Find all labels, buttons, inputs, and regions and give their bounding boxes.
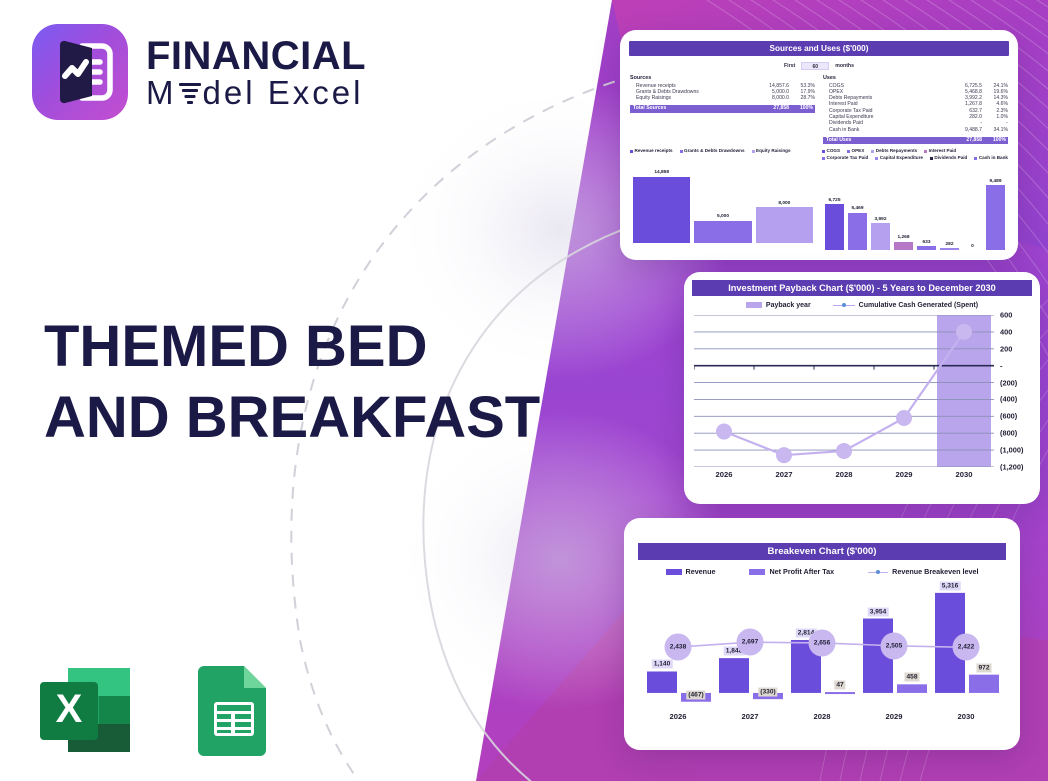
legend-item: OPEX: [847, 148, 864, 153]
npat-bar: [897, 684, 927, 693]
row-percent: 28.7%: [789, 95, 815, 101]
bar-column: 9,489: [986, 164, 1005, 250]
legend-cumulative-cash-label: Cumulative Cash Generated (Spent): [859, 302, 978, 309]
bar: [694, 221, 751, 244]
total-sources-value: 27,858: [755, 105, 789, 113]
npat-bar: [825, 692, 855, 694]
uses-heading: Uses: [823, 75, 1008, 81]
legend-item-label: Grants & Debts Drawdowns: [684, 148, 745, 153]
total-sources-pct: 100%: [789, 105, 815, 113]
legend-item-label: Corporate Tax Paid: [827, 155, 869, 160]
total-sources-row: Total Sources 27,858 100%: [630, 105, 815, 113]
bar-column: 1,268: [894, 164, 913, 250]
y-axis-tick-label: (400): [1000, 395, 1017, 404]
uses-column: Uses COGS6,725.524.1%OPEX5,468.819.6%Deb…: [823, 75, 1008, 144]
data-point: [896, 410, 912, 426]
npat-data-label: 47: [834, 681, 845, 690]
sources-and-uses-title: Sources and Uses ($'000): [629, 41, 1009, 56]
bar-value-label: 5,469: [851, 206, 863, 211]
revenue-data-label: 1,140: [652, 660, 673, 669]
breakeven-data-node: 2,438: [665, 634, 692, 661]
payback-year-swatch: [746, 302, 762, 308]
uses-bar-chart[interactable]: COGSOPEXDebts RepaymentsInterest PaidCor…: [822, 148, 1008, 250]
revenue-data-label: 3,954: [868, 607, 889, 616]
row-percent: 34.1%: [982, 127, 1008, 133]
bar-column: 0: [963, 164, 982, 250]
revenue-data-label: 5,316: [940, 581, 961, 590]
row-value: 8,000.0: [755, 95, 789, 101]
bar-value-label: 6,725: [828, 198, 840, 203]
cumulative-cash-line-swatch: [833, 302, 855, 308]
breakeven-data-node: 2,656: [809, 629, 836, 656]
bar-value-label: 282: [945, 242, 953, 247]
total-uses-row: Total Uses 27,858 100%: [823, 137, 1008, 145]
financial-model-excel-logo-icon: [32, 24, 128, 120]
x-axis-tick-label: 2029: [874, 470, 934, 479]
legend-breakeven-level-label: Revenue Breakeven level: [892, 567, 978, 576]
npat-data-label: 458: [904, 673, 919, 682]
bar-value-label: 633: [922, 240, 930, 245]
bar: [825, 204, 844, 250]
x-axis-tick-label: 2026: [642, 712, 714, 721]
legend-item: Capital Expenditure: [875, 155, 923, 160]
bar-value-label: 14,858: [654, 170, 669, 175]
total-uses-pct: 100%: [982, 137, 1008, 145]
table-row: Equity Raisings8,000.028.7%: [630, 95, 815, 101]
y-axis-tick-label: (800): [1000, 429, 1017, 438]
sources-and-uses-card[interactable]: Sources and Uses ($'000) First 60 months…: [620, 30, 1018, 260]
legend-item: Corporate Tax Paid: [822, 155, 868, 160]
bar-column: 6,725: [825, 164, 844, 250]
bar: [940, 248, 959, 250]
total-uses-label: Total Uses: [823, 137, 948, 145]
legend-item: Equity Raisings: [752, 148, 791, 153]
bar-value-label: 5,000: [717, 214, 729, 219]
legend-cumulative-cash: Cumulative Cash Generated (Spent): [833, 302, 978, 309]
legend-item: Revenue receipts: [630, 148, 673, 153]
revenue-bar: [647, 671, 677, 692]
bar-value-label: 3,992: [874, 217, 886, 222]
bar-value-label: 0: [971, 244, 974, 249]
breakeven-plot-area: 1,1401,8482,8143,9545,316(467)(330)47458…: [642, 580, 1002, 708]
bar-column: 633: [917, 164, 936, 250]
bar: [894, 242, 913, 251]
google-sheets-icon: [192, 660, 278, 760]
sources-chart-legend: Revenue receiptsGrants & Debts Drawdowns…: [630, 148, 816, 153]
period-prefix-label: First: [784, 63, 795, 69]
bar: [986, 185, 1005, 250]
brand-name-bottom-pre: M: [146, 76, 177, 109]
row-label: Equity Raisings: [630, 95, 755, 101]
legend-npat: Net Profit After Tax: [749, 567, 834, 576]
y-axis-tick-label: (200): [1000, 378, 1017, 387]
y-axis-tick-label: (1,200): [1000, 463, 1023, 472]
table-row: Cash in Bank9,488.734.1%: [823, 127, 1008, 133]
y-axis-tick-label: 400: [1000, 327, 1012, 336]
x-axis-tick-label: 2030: [930, 712, 1002, 721]
brand-name-bottom-post: del Excel: [203, 76, 364, 109]
payback-y-axis-labels: 600400200-(200)(400)(600)(800)(1,000)(1,…: [994, 315, 1038, 467]
brand-name-top: FINANCIAL: [146, 36, 366, 76]
legend-item: COGS: [822, 148, 840, 153]
total-sources-label: Total Sources: [630, 105, 755, 113]
x-axis-tick-label: 2028: [786, 712, 858, 721]
breakeven-x-axis-labels: 20262027202820292030: [642, 712, 1002, 721]
brand-name-bottom: M del Excel: [146, 76, 366, 109]
page-title-line-2: AND BREAKFAST: [44, 383, 540, 454]
payback-line-chart: [694, 315, 994, 467]
npat-bar: [969, 675, 999, 693]
legend-item-label: Dividends Paid: [934, 155, 967, 160]
legend-item: Interest Paid: [924, 148, 956, 153]
sources-uses-table: Sources Revenue receipts14,857.653.3%Gra…: [620, 70, 1018, 144]
revenue-swatch: [666, 569, 682, 575]
microsoft-excel-icon: X: [30, 660, 150, 760]
sources-bar-chart[interactable]: Revenue receiptsGrants & Debts Drawdowns…: [630, 148, 816, 250]
legend-item: Grants & Debts Drawdowns: [680, 148, 745, 153]
bar-column: 8,000: [756, 157, 813, 243]
bar-value-label: 1,268: [897, 235, 909, 240]
data-point: [836, 443, 852, 459]
payback-x-axis-labels: 20262027202820292030: [694, 470, 994, 479]
uses-bars: 6,7255,4693,9921,26863328209,489: [822, 164, 1008, 250]
y-axis-tick-label: -: [1000, 361, 1002, 370]
bar: [917, 246, 936, 250]
npat-data-label: (330): [758, 688, 777, 697]
legend-item-label: OPEX: [852, 148, 865, 153]
period-selector[interactable]: First 60 months: [620, 62, 1018, 70]
sources-uses-charts: Revenue receiptsGrants & Debts Drawdowns…: [620, 144, 1018, 258]
breakeven-data-node: 2,422: [953, 634, 980, 661]
legend-item-label: Revenue receipts: [635, 148, 673, 153]
payback-chart-legend: Payback year Cumulative Cash Generated (…: [684, 302, 1040, 309]
uses-chart-legend: COGSOPEXDebts RepaymentsInterest PaidCor…: [822, 148, 1008, 160]
breakeven-chart-title: Breakeven Chart ($'000): [638, 543, 1006, 560]
y-axis-tick-label: (600): [1000, 412, 1017, 421]
x-axis-tick-label: 2027: [754, 470, 814, 479]
data-point: [956, 324, 972, 340]
bar-column: 14,858: [633, 157, 690, 243]
stacked-bars-o-icon: [177, 77, 203, 107]
bar: [633, 177, 690, 244]
legend-npat-label: Net Profit After Tax: [769, 567, 834, 576]
investment-payback-card[interactable]: Investment Payback Chart ($'000) - 5 Yea…: [684, 272, 1040, 504]
sources-bars: 14,8585,0008,000: [630, 157, 816, 243]
legend-item-label: COGS: [827, 148, 841, 153]
x-axis-tick-label: 2028: [814, 470, 874, 479]
bar-value-label: 9,489: [989, 179, 1001, 184]
breakeven-line-swatch: [868, 569, 888, 575]
bar-column: 282: [940, 164, 959, 250]
x-axis-tick-label: 2026: [694, 470, 754, 479]
y-axis-tick-label: 600: [1000, 311, 1012, 320]
npat-data-label: 972: [976, 663, 991, 672]
page-title-line-1: THEMED BED: [44, 312, 540, 383]
legend-item: Dividends Paid: [930, 155, 967, 160]
bar: [848, 213, 867, 251]
sources-column: Sources Revenue receipts14,857.653.3%Gra…: [630, 75, 815, 144]
x-axis-tick-label: 2030: [934, 470, 994, 479]
bar-column: 5,000: [694, 157, 751, 243]
legend-breakeven-level: Revenue Breakeven level: [868, 567, 978, 576]
x-axis-tick-label: 2027: [714, 712, 786, 721]
y-axis-tick-label: 200: [1000, 344, 1012, 353]
page-title: THEMED BED AND BREAKFAST: [44, 312, 540, 454]
legend-item-label: Capital Expenditure: [880, 155, 923, 160]
legend-item-label: Equity Raisings: [756, 148, 790, 153]
row-label: Cash in Bank: [823, 127, 948, 133]
legend-payback-year-label: Payback year: [766, 302, 811, 309]
bar: [871, 223, 890, 250]
bar-column: 5,469: [848, 164, 867, 250]
bar-value-label: 8,000: [778, 201, 790, 206]
y-axis-tick-label: (1,000): [1000, 446, 1023, 455]
file-format-icons: X: [30, 660, 278, 760]
payback-chart-title: Investment Payback Chart ($'000) - 5 Yea…: [692, 280, 1032, 296]
cumulative-cash-line: [724, 332, 964, 455]
breakeven-data-node: 2,697: [737, 629, 764, 656]
period-suffix-label: months: [835, 63, 854, 69]
x-axis-tick-label: 2029: [858, 712, 930, 721]
npat-data-label: (467): [686, 690, 705, 699]
bar-column: 3,992: [871, 164, 890, 250]
poster-canvas: FINANCIAL M del Excel THEMED BED AND BRE…: [0, 0, 1048, 781]
breakeven-data-node: 2,505: [881, 632, 908, 659]
sources-heading: Sources: [630, 75, 815, 81]
data-point: [776, 447, 792, 463]
period-months-input[interactable]: 60: [801, 62, 829, 70]
breakeven-chart-legend: Revenue Net Profit After Tax Revenue Bre…: [624, 567, 1020, 576]
legend-revenue: Revenue: [666, 567, 716, 576]
payback-plot-area: 600400200-(200)(400)(600)(800)(1,000)(1,…: [694, 315, 994, 467]
legend-item-label: Debts Repayments: [876, 148, 917, 153]
bar: [756, 207, 813, 243]
legend-item: Cash in Bank: [974, 155, 1008, 160]
npat-swatch: [749, 569, 765, 575]
breakeven-card[interactable]: Breakeven Chart ($'000) Revenue Net Prof…: [624, 518, 1020, 750]
revenue-bar: [719, 658, 749, 693]
legend-payback-year: Payback year: [746, 302, 811, 309]
legend-item: Debts Repayments: [871, 148, 917, 153]
legend-item-label: Cash in Bank: [979, 155, 1008, 160]
row-value: 9,488.7: [948, 127, 982, 133]
brand-logo: FINANCIAL M del Excel: [32, 24, 366, 120]
legend-revenue-label: Revenue: [686, 567, 716, 576]
legend-item-label: Interest Paid: [929, 148, 957, 153]
svg-text:X: X: [56, 687, 83, 731]
data-point: [716, 424, 732, 440]
total-uses-value: 27,858: [948, 137, 982, 145]
